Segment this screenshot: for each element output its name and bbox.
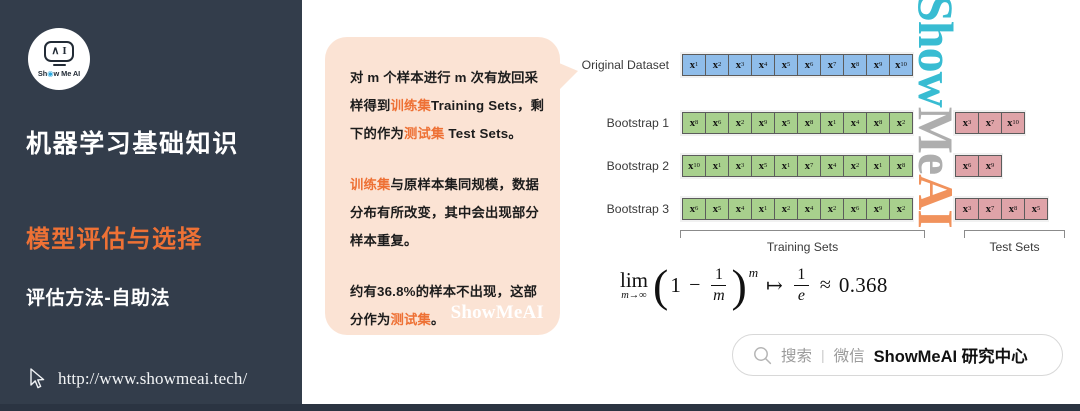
logo-brand-line: Sh◉w Me AI [38, 69, 80, 78]
cell-group: x1x2x3x4x5x6x7x8x9x10 [680, 52, 914, 78]
bubble-text-run: 与原样本集同规模，数据 [391, 177, 539, 192]
sample-cell: x5 [705, 198, 729, 220]
training-sets-label: Training Sets [680, 240, 925, 254]
bubble-text-run: 下的作为 [350, 126, 404, 141]
limit-op-subscript: m→∞ [621, 290, 647, 301]
sample-cell: x7 [978, 112, 1002, 134]
search-brand-label: ShowMeAI 研究中心 [874, 343, 1028, 367]
sample-cell: x2 [820, 198, 844, 220]
bubble-text-run: 。 [431, 312, 445, 327]
frac2-numerator: 1 [797, 267, 805, 283]
sample-cell: x8 [843, 54, 867, 76]
site-url-row[interactable]: http://www.showmeai.tech/ [28, 368, 247, 390]
formula-minus: − [689, 274, 700, 297]
open-paren: ( [653, 269, 668, 303]
robot-eye-right-icon: I [62, 46, 66, 57]
formula-result: 0.368 [839, 273, 888, 298]
sample-cell: x6 [682, 198, 706, 220]
bubble-paragraph: 对 m 个样本进行 m 次有放回采样得到训练集Training Sets，剩下的… [350, 64, 546, 148]
sample-cell: x1 [682, 54, 706, 76]
sample-cell: x1 [820, 112, 844, 134]
row-label: Bootstrap 3 [607, 196, 669, 222]
limit-operator: lim m→∞ [620, 270, 648, 301]
sample-cell: x7 [978, 198, 1002, 220]
sample-cell: x5 [1024, 198, 1048, 220]
sample-cell: x1 [751, 198, 775, 220]
explanation-bubble: 对 m 个样本进行 m 次有放回采样得到训练集Training Sets，剩下的… [325, 37, 560, 335]
frac1-numerator: 1 [715, 267, 723, 283]
sample-cell: x3 [728, 54, 752, 76]
sample-cell: x6 [705, 112, 729, 134]
main-content: 对 m 个样本进行 m 次有放回采样得到训练集Training Sets，剩下的… [302, 0, 1080, 404]
bubble-text-run: 分作为 [350, 312, 391, 327]
search-channel-label: 微信 [834, 344, 865, 366]
sample-cell: x2 [889, 198, 913, 220]
maps-to-symbol: ↦ [766, 273, 783, 298]
bubble-text-run: Training Sets，剩 [431, 98, 544, 113]
sample-cell: x10 [889, 54, 913, 76]
row-label: Original Dataset [582, 52, 669, 78]
sample-cell: x1 [705, 155, 729, 177]
bubble-highlight-term: 训练集 [391, 98, 432, 113]
sample-cell: x8 [1001, 198, 1025, 220]
test-sets-bracket: Test Sets [964, 230, 1065, 237]
training-sets-bracket: Training Sets [680, 230, 925, 237]
table-row: Original Datasetx1x2x3x4x5x6x7x8x9x10 [680, 52, 914, 78]
sample-cell: x8 [889, 155, 913, 177]
test-cell-group: x6x9 [953, 153, 1003, 179]
sample-cell: x5 [774, 112, 798, 134]
cell-group: x6x5x4x1x2x4x2x6x9x2 [680, 196, 914, 222]
sample-cell: x2 [843, 155, 867, 177]
test-sets-label: Test Sets [964, 240, 1065, 254]
test-cell-group: x3x7x8x5 [953, 196, 1049, 222]
sample-cell: x5 [774, 54, 798, 76]
formula-one: 1 [670, 273, 681, 298]
bottom-rule [0, 404, 1080, 411]
bubble-text-body: 对 m 个样本进行 m 次有放回采样得到训练集Training Sets，剩下的… [350, 64, 546, 334]
table-row: Bootstrap 1x8x6x2x9x5x8x1x4x8x2x3x7x10 [680, 110, 1026, 136]
cell-group: x8x6x2x9x5x8x1x4x8x2 [680, 110, 914, 136]
robot-mouth-icon [53, 64, 66, 66]
sample-cell: x9 [866, 198, 890, 220]
sample-cell: x1 [774, 155, 798, 177]
section-subtitle-secondary: 评估方法-自助法 [26, 283, 286, 310]
search-input[interactable]: 搜索 [781, 344, 812, 366]
sample-cell: x8 [682, 112, 706, 134]
sample-cell: x2 [705, 54, 729, 76]
sidebar: ∧ I Sh◉w Me AI 机器学习基础知识 模型评估与选择 评估方法-自助法… [0, 0, 302, 411]
bubble-highlight-term: 测试集 [391, 312, 432, 327]
frac1-bar [711, 285, 726, 286]
bubble-text-run: 约有36.8%的样本不出现，这部 [350, 284, 537, 299]
robot-face-icon: ∧ I [44, 41, 74, 62]
limit-op-text: lim [620, 270, 648, 290]
bubble-text-run: 样得到 [350, 98, 391, 113]
bubble-paragraph: 训练集与原样本集同规模，数据分布有所改变，其中会出现部分样本重复。 [350, 171, 546, 255]
showmeai-robot-logo: ∧ I Sh◉w Me AI [28, 28, 90, 90]
wechat-search-bar[interactable]: 搜索 | 微信 ShowMeAI 研究中心 [732, 334, 1063, 376]
sample-cell: x4 [728, 198, 752, 220]
search-icon [753, 346, 772, 365]
slide-root: ∧ I Sh◉w Me AI 机器学习基础知识 模型评估与选择 评估方法-自助法… [0, 0, 1080, 411]
sample-cell: x8 [866, 112, 890, 134]
row-label: Bootstrap 1 [607, 110, 669, 136]
sample-cell: x6 [797, 54, 821, 76]
sample-cell: x7 [797, 155, 821, 177]
formula-exponent: m [749, 265, 758, 281]
sample-cell: x9 [978, 155, 1002, 177]
frac2-denominator: e [798, 287, 805, 304]
sample-cell: x6 [843, 198, 867, 220]
bubble-paragraph-gap [350, 255, 546, 278]
sample-cell: x3 [728, 155, 752, 177]
sample-cell: x3 [955, 112, 979, 134]
close-paren: ) [731, 269, 746, 303]
sample-cell: x9 [866, 54, 890, 76]
bubble-text-run: 对 m 个样本进行 m 次有放回采 [350, 70, 538, 85]
row-label: Bootstrap 2 [607, 153, 669, 179]
bubble-paragraph-gap [350, 148, 546, 171]
sample-cell: x10 [682, 155, 706, 177]
sample-cell: x1 [866, 155, 890, 177]
brand-logo: ∧ I Sh◉w Me AI [28, 28, 90, 90]
robot-eye-left-icon: ∧ [51, 46, 59, 57]
bubble-watermark: ShowMeAI [451, 302, 544, 324]
approx-symbol: ≈ [820, 274, 831, 297]
bubble-highlight-term: 测试集 [404, 126, 445, 141]
sample-cell: x2 [728, 112, 752, 134]
sample-cell: x4 [797, 198, 821, 220]
section-subtitle-primary: 模型评估与选择 [26, 219, 286, 254]
search-divider: | [821, 347, 825, 363]
frac2-bar [794, 285, 809, 286]
bubble-tail-icon [552, 60, 578, 97]
sample-cell: x7 [820, 54, 844, 76]
bubble-text-run: 分布有所改变，其中会出现部分 [350, 205, 539, 220]
bootstrap-diagram: Original Datasetx1x2x3x4x5x6x7x8x9x10Boo… [592, 40, 1072, 275]
limit-formula: lim m→∞ ( 1 − 1 m ) m ↦ 1 e ≈ 0.368 [620, 267, 888, 304]
sample-cell: x5 [751, 155, 775, 177]
fraction-one-over-e: 1 e [794, 267, 809, 304]
sample-cell: x4 [843, 112, 867, 134]
site-url-text: http://www.showmeai.tech/ [58, 369, 247, 389]
page-title: 机器学习基础知识 [26, 124, 286, 160]
test-cell-group: x3x7x10 [953, 110, 1026, 136]
sample-cell: x3 [955, 198, 979, 220]
sample-cell: x6 [955, 155, 979, 177]
bubble-text-run: 样本重复。 [350, 233, 417, 248]
cell-group: x10x1x3x5x1x7x4x2x1x8 [680, 153, 914, 179]
table-row: Bootstrap 3x6x5x4x1x2x4x2x6x9x2x3x7x8x5 [680, 196, 1049, 222]
fraction-one-over-m: 1 m [711, 267, 726, 304]
table-row: Bootstrap 2x10x1x3x5x1x7x4x2x1x8x6x9 [680, 153, 1003, 179]
sample-cell: x9 [751, 112, 775, 134]
sample-cell: x2 [774, 198, 798, 220]
bubble-highlight-term: 训练集 [350, 177, 391, 192]
sample-cell: x4 [820, 155, 844, 177]
sample-cell: x10 [1001, 112, 1025, 134]
sample-cell: x2 [889, 112, 913, 134]
bubble-text-run: Test Sets。 [445, 126, 522, 141]
sample-cell: x4 [751, 54, 775, 76]
frac1-denominator: m [713, 287, 725, 304]
cursor-pointer-icon [28, 368, 48, 390]
sample-cell: x8 [797, 112, 821, 134]
